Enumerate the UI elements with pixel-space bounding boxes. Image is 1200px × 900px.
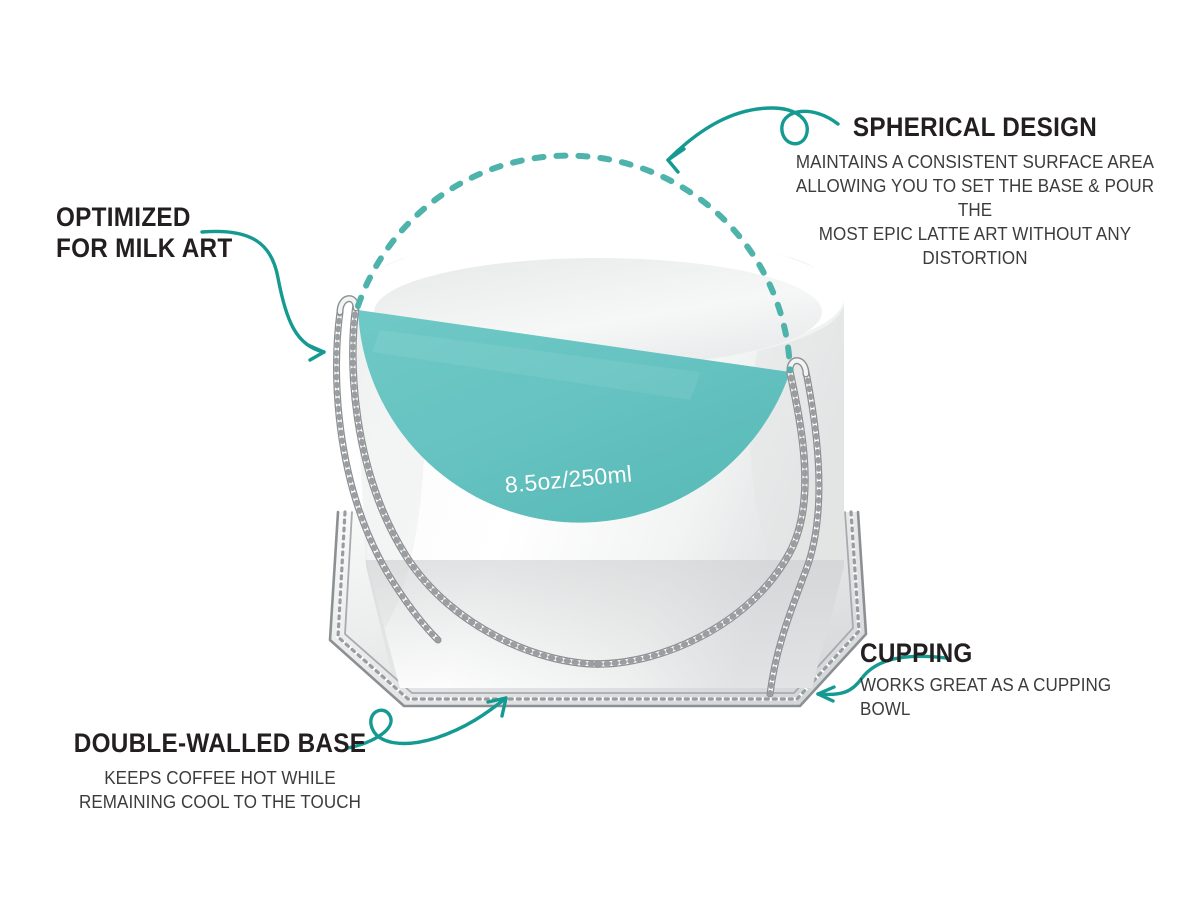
callout-spherical-design: SPHERICAL DESIGN MAINTAINS A CONSISTENT …: [760, 112, 1190, 270]
callout-spherical-design-body: MAINTAINS A CONSISTENT SURFACE AREA ALLO…: [777, 150, 1173, 270]
callout-optimized-for-milk-art-title: OPTIMIZED FOR MILK ART: [56, 202, 308, 264]
callout-double-walled-base-body: KEEPS COFFEE HOT WHILE REMAINING COOL TO…: [64, 766, 377, 814]
callout-double-walled-base: DOUBLE-WALLED BASE KEEPS COFFEE HOT WHIL…: [50, 728, 390, 814]
callout-spherical-design-title: SPHERICAL DESIGN: [782, 112, 1169, 143]
callout-double-walled-base-title: DOUBLE-WALLED BASE: [67, 728, 373, 759]
callout-cupping: CUPPING WORKS GREAT AS A CUPPING BOWL: [860, 638, 1190, 721]
callout-optimized-for-milk-art: OPTIMIZED FOR MILK ART: [56, 202, 336, 264]
callout-cupping-body: WORKS GREAT AS A CUPPING BOWL: [860, 673, 1164, 721]
callout-cupping-title: CUPPING: [860, 638, 1157, 669]
